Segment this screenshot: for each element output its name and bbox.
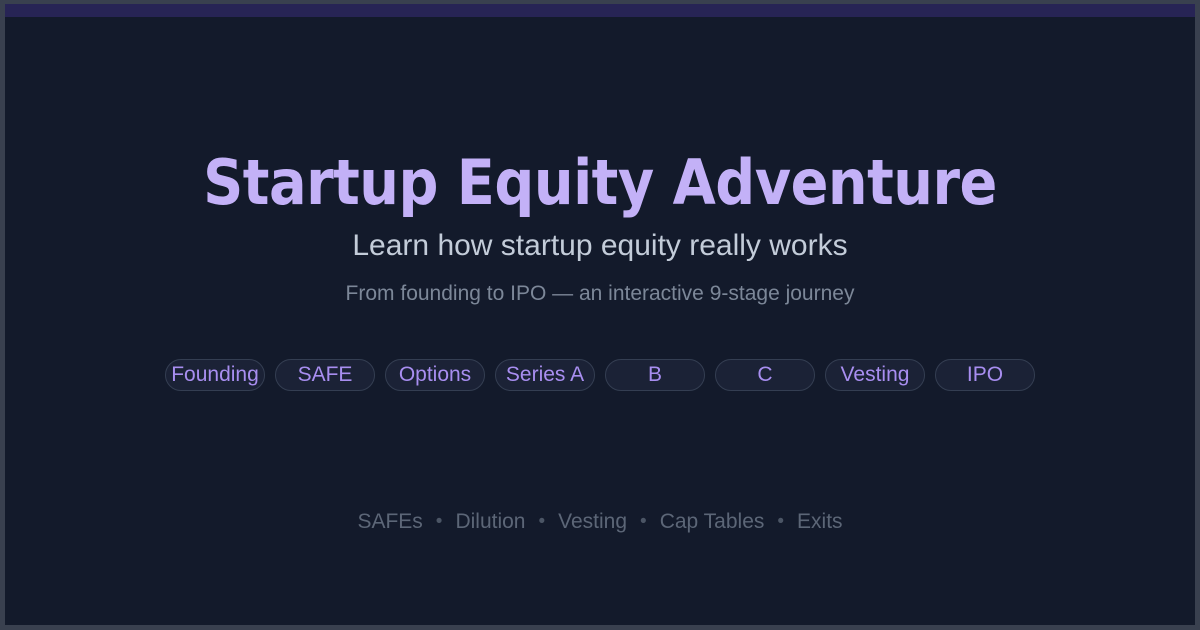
stage-pill-founding[interactable]: Founding [165,359,265,391]
topic-separator: • [436,511,443,533]
topic-item-dilution: Dilution [455,510,525,534]
card-content: Startup Equity Adventure Learn how start… [5,4,1195,625]
topic-item-safes: SAFEs [357,510,422,534]
stage-pill-safe[interactable]: SAFE [275,359,375,391]
stage-pill-row: FoundingSAFEOptionsSeries ABCVestingIPO [5,359,1195,391]
stage-pill-series-a[interactable]: Series A [495,359,595,391]
page-tagline: From founding to IPO — an interactive 9-… [5,281,1195,306]
page-subtitle: Learn how startup equity really works [5,228,1195,264]
topic-separator: • [539,511,546,533]
topic-item-vesting: Vesting [558,510,627,534]
topic-item-exits: Exits [797,510,843,534]
stage-pill-vesting[interactable]: Vesting [825,359,925,391]
og-card: Startup Equity Adventure Learn how start… [0,0,1200,630]
topic-separator: • [640,511,647,533]
topic-separator: • [777,511,784,533]
stage-pill-b[interactable]: B [605,359,705,391]
stage-pill-ipo[interactable]: IPO [935,359,1035,391]
stage-pill-c[interactable]: C [715,359,815,391]
stage-pill-options[interactable]: Options [385,359,485,391]
topic-item-cap-tables: Cap Tables [660,510,765,534]
page-title: Startup Equity Adventure [5,150,1195,217]
topic-list: SAFEs•Dilution•Vesting•Cap Tables•Exits [5,510,1195,534]
